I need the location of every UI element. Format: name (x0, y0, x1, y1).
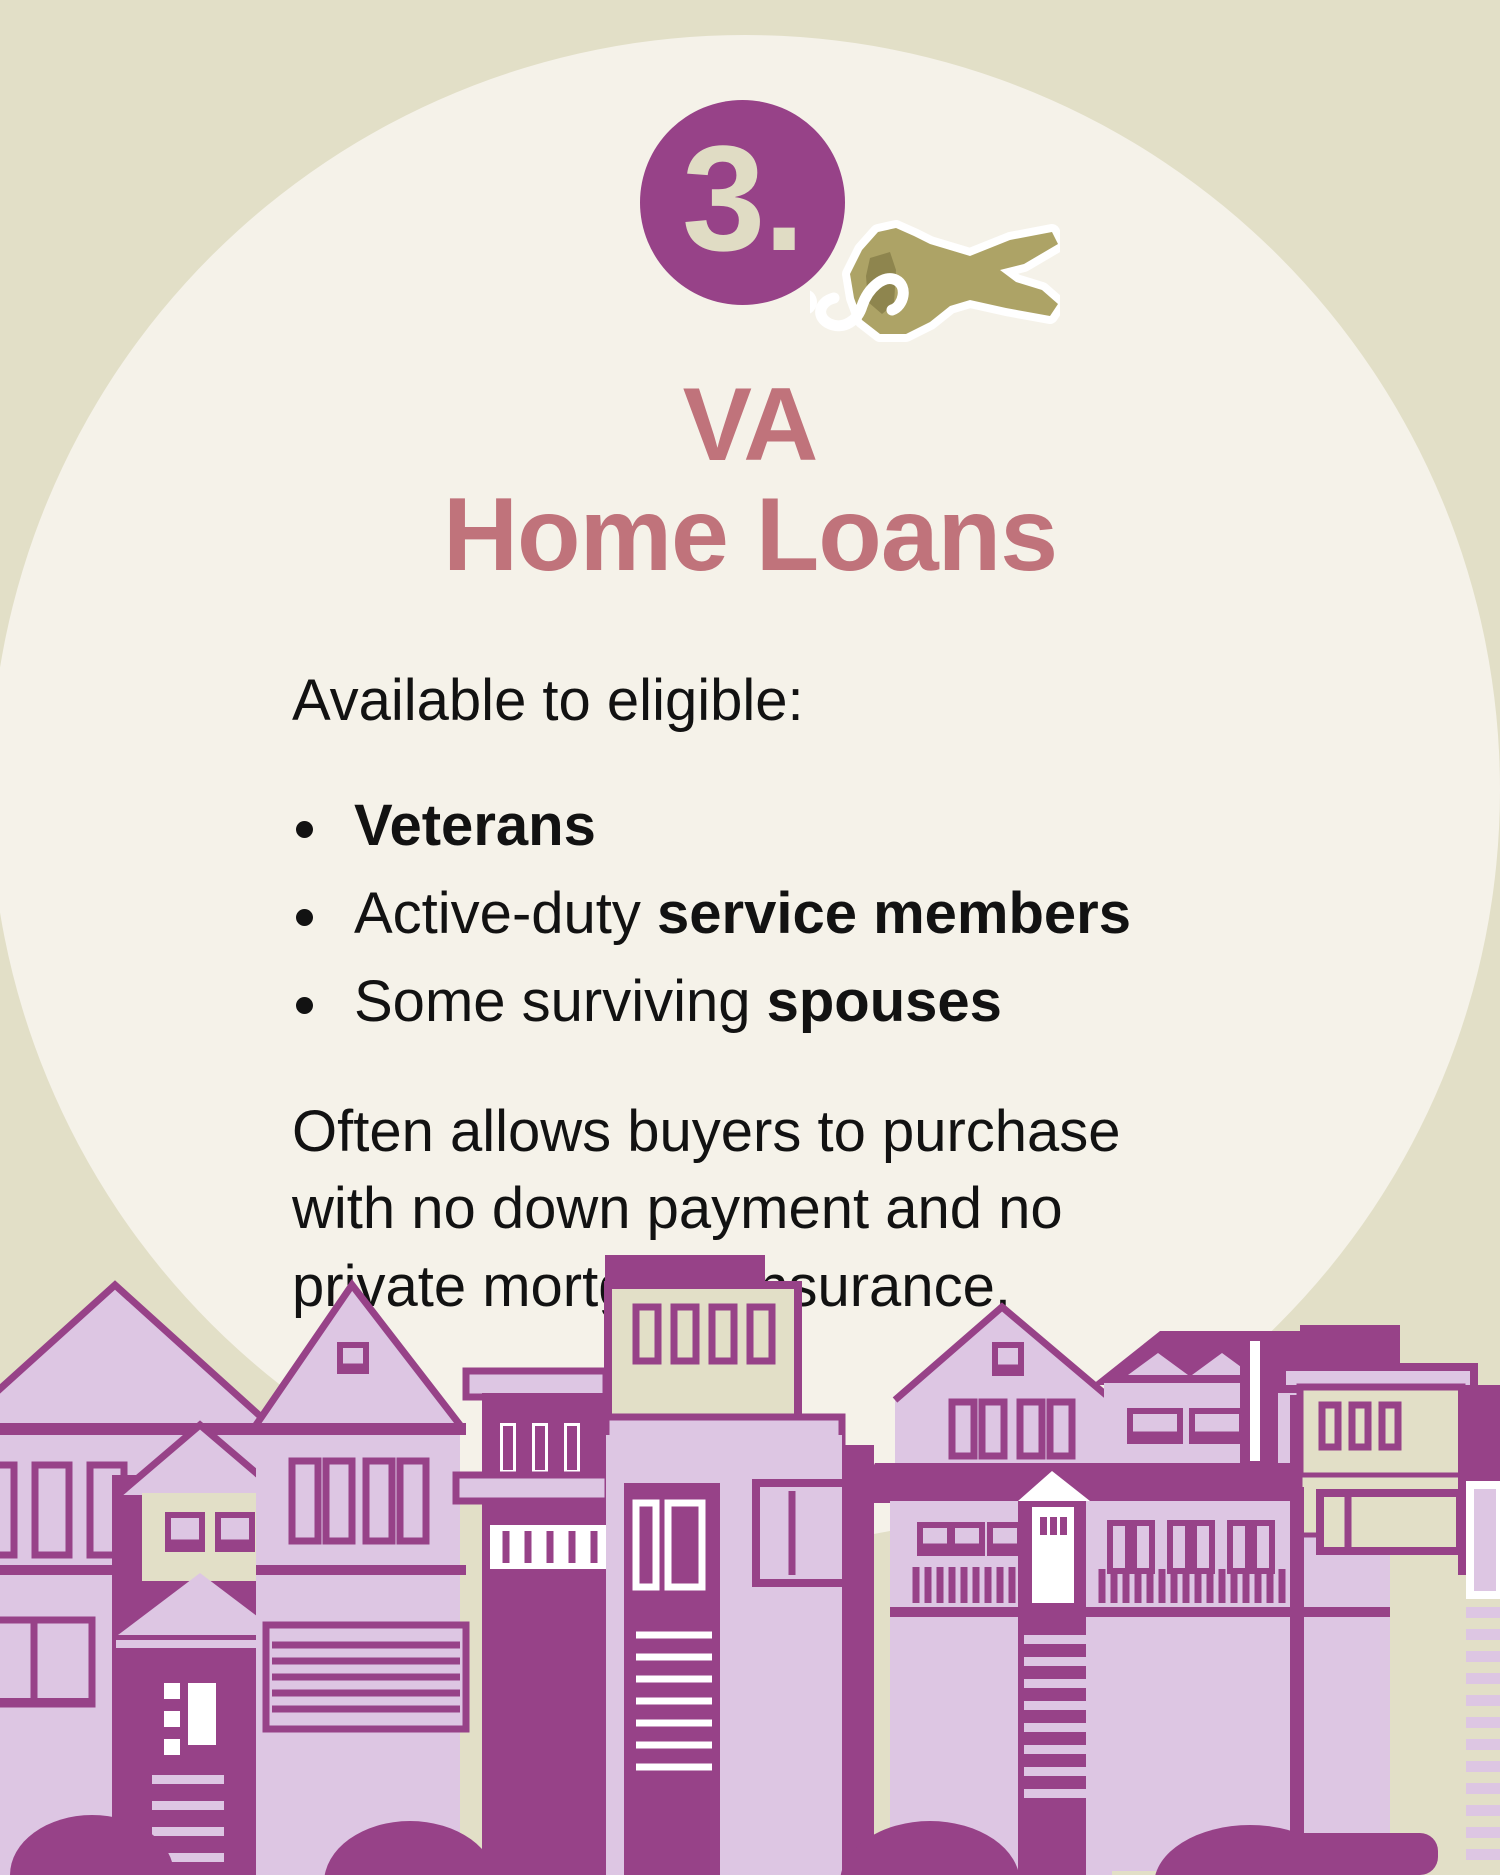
title-line-1: VA (0, 370, 1500, 480)
list-item-bold: Veterans (354, 793, 596, 858)
list-item-plain: Active-duty (354, 881, 657, 946)
bullet-dot-icon (296, 909, 313, 926)
body-content: Available to eligible: Veterans Active-d… (292, 668, 1252, 1326)
list-item-plain: Some surviving (354, 969, 767, 1034)
list-item: Veterans (292, 797, 1252, 855)
title-line-2: Home Loans (0, 480, 1500, 590)
list-item: Active-duty service members (292, 885, 1252, 943)
list-item-bold: spouses (767, 969, 1002, 1034)
step-badge: 3. (0, 100, 1500, 310)
list-item: Some surviving spouses (292, 973, 1252, 1031)
eligibility-list: Veterans Active-duty service members Som… (292, 797, 1252, 1031)
bullet-dot-icon (296, 997, 313, 1014)
neighborhood-houses-illustration: .p { fill:#974288; } .l { fill:#ddc6e3; … (0, 1235, 1500, 1875)
bullet-dot-icon (296, 821, 313, 838)
key-icon (810, 210, 1060, 380)
list-item-bold: service members (657, 881, 1131, 946)
page-title: VA Home Loans (0, 370, 1500, 590)
lead-text: Available to eligible: (292, 668, 1252, 735)
va-home-loans-poster: 3. VA Home Loans Available to eligible: … (0, 0, 1500, 1875)
